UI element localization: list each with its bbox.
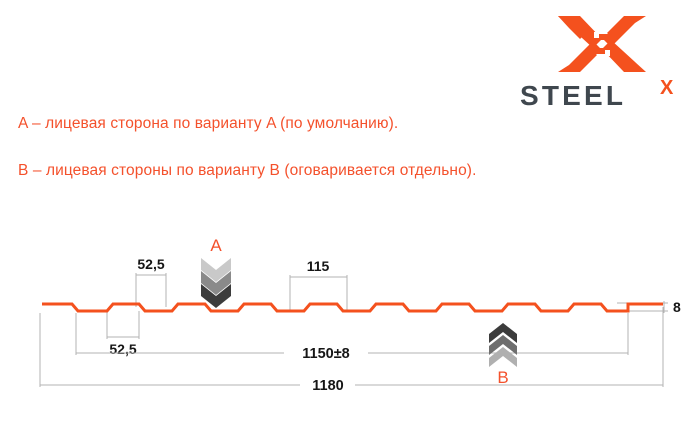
dimension-label-overall-width: 1180 bbox=[312, 378, 343, 394]
variant-marker-a: A bbox=[196, 237, 236, 308]
caption-variant-b: B – лицевая стороны по варианту B (огова… bbox=[18, 162, 476, 180]
variant-marker-b-letter: B bbox=[497, 368, 508, 387]
variant-marker-b: B bbox=[483, 323, 523, 388]
dimension-label-effective-width: 1150±8 bbox=[302, 346, 349, 362]
brand-wordmark: STEEL X bbox=[520, 78, 690, 114]
brand-superscript-x: X bbox=[660, 78, 674, 99]
caption-variant-a: A – лицевая сторона по варианту A (по ум… bbox=[18, 115, 398, 133]
chevron-down-stack-icon bbox=[196, 256, 236, 308]
dimension-label-sheet-height: 8 bbox=[673, 299, 681, 315]
profile-outline bbox=[42, 304, 663, 311]
dimension-label-crest-width-top: 52,5 bbox=[137, 256, 164, 272]
profile-cross-section-drawing: 52,5 52,5 115 8 11 bbox=[0, 215, 700, 420]
brand-logo: STEEL X bbox=[520, 14, 690, 114]
dimension-label-valley-width-bottom: 52,5 bbox=[109, 341, 136, 357]
brand-name-text: STEEL bbox=[520, 80, 626, 111]
dimension-crest-width-top bbox=[136, 273, 166, 307]
chevron-up-stack-icon bbox=[483, 323, 523, 369]
variant-marker-a-letter: A bbox=[210, 236, 221, 255]
dimension-label-pitch: 115 bbox=[307, 258, 330, 274]
steelx-x-logo-icon bbox=[556, 14, 648, 74]
diagram-canvas: STEEL X A – лицевая сторона по варианту … bbox=[0, 0, 700, 436]
dimension-valley-width-bottom bbox=[107, 311, 139, 339]
dimension-effective-width bbox=[76, 313, 628, 355]
